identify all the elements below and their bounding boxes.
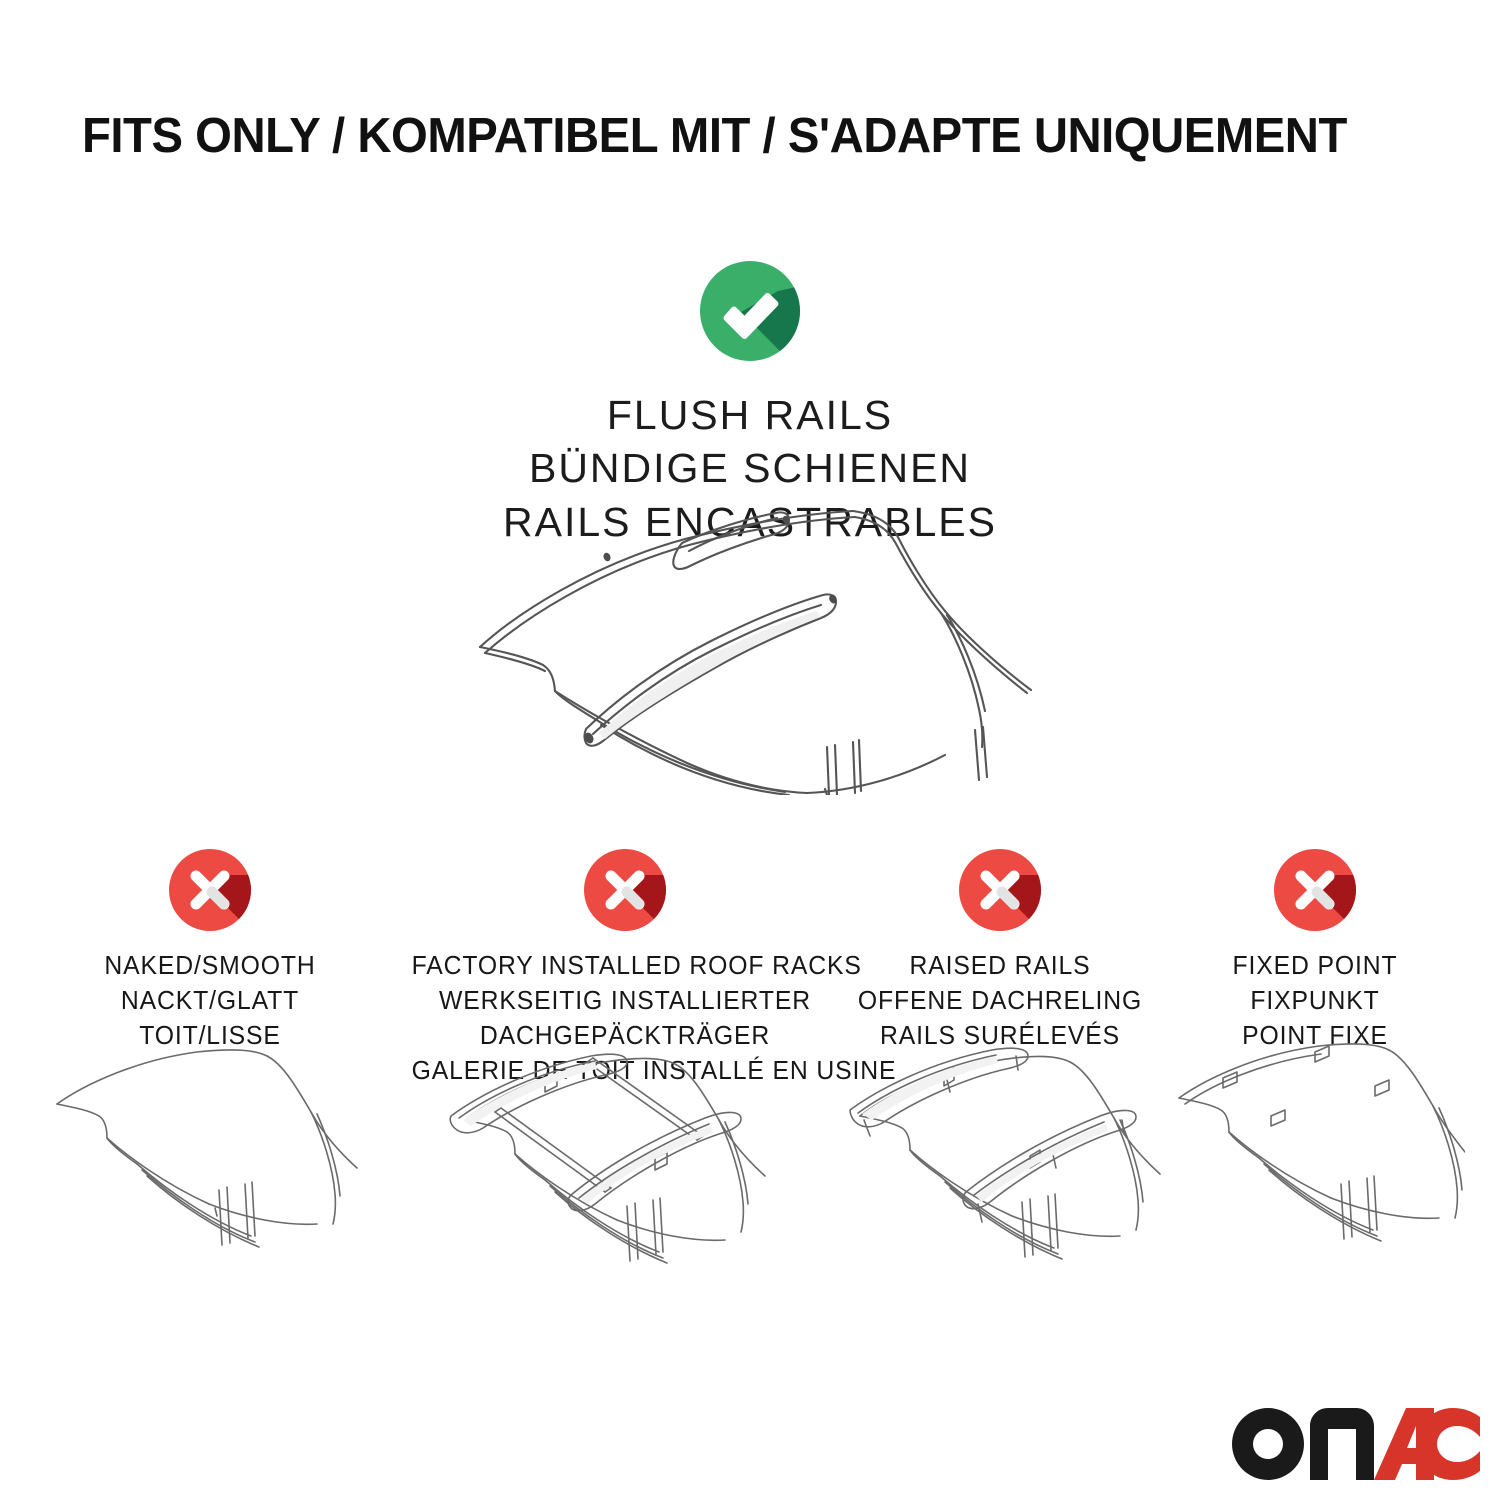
incompatible-label-en: NAKED/SMOOTH <box>50 949 370 984</box>
incompatible-labels: NAKED/SMOOTH NACKT/GLATT TOIT/LISSE <box>45 949 375 1054</box>
incompatible-item-factory-roof-racks: FACTORY INSTALLED ROOF RACKS WERKSEITIG … <box>405 845 845 1089</box>
incompatible-label-de-1: WERKSEITIG INSTALLIERTER <box>412 984 839 1019</box>
incompatible-label-en: FIXED POINT <box>1170 949 1461 984</box>
check-circle-icon <box>694 255 806 367</box>
incompatible-labels: RAISED RAILS OFFENE DACHRELING RAILS SUR… <box>820 949 1180 1054</box>
incompatible-item-fixed-point: FIXED POINT FIXPUNKT POINT FIXE <box>1165 845 1465 1054</box>
roof-illustration-fixed-point <box>1165 1040 1465 1275</box>
roof-illustration-factory-roof-racks <box>405 1040 845 1275</box>
incompatible-labels: FIXED POINT FIXPUNKT POINT FIXE <box>1165 949 1465 1054</box>
x-circle-icon <box>955 845 1045 935</box>
incompatible-label-de: FIXPUNKT <box>1170 984 1461 1019</box>
compatible-label-en: FLUSH RAILS <box>0 389 1500 442</box>
incompatible-label-en: RAISED RAILS <box>825 949 1174 984</box>
roof-illustration-naked-smooth <box>45 1040 375 1275</box>
roof-illustration-flush-rails <box>455 495 1055 795</box>
x-circle-icon <box>1270 845 1360 935</box>
page-title: FITS ONLY / KOMPATIBEL MIT / S'ADAPTE UN… <box>82 108 1375 164</box>
x-circle-icon <box>165 845 255 935</box>
x-circle-icon <box>580 845 670 935</box>
roof-illustration-raised-rails <box>820 1040 1180 1275</box>
incompatible-item-naked-smooth: NAKED/SMOOTH NACKT/GLATT TOIT/LISSE <box>45 845 375 1054</box>
incompatible-label-de: NACKT/GLATT <box>50 984 370 1019</box>
incompatible-item-raised-rails: RAISED RAILS OFFENE DACHRELING RAILS SUR… <box>820 845 1180 1054</box>
omac-logo: OMAC <box>1232 1408 1480 1480</box>
incompatible-label-de: OFFENE DACHRELING <box>825 984 1174 1019</box>
incompatible-label-en: FACTORY INSTALLED ROOF RACKS <box>412 949 839 984</box>
compatible-label-de: BÜNDIGE SCHIENEN <box>0 442 1500 495</box>
incompatible-section: NAKED/SMOOTH NACKT/GLATT TOIT/LISSE <box>0 845 1500 1295</box>
